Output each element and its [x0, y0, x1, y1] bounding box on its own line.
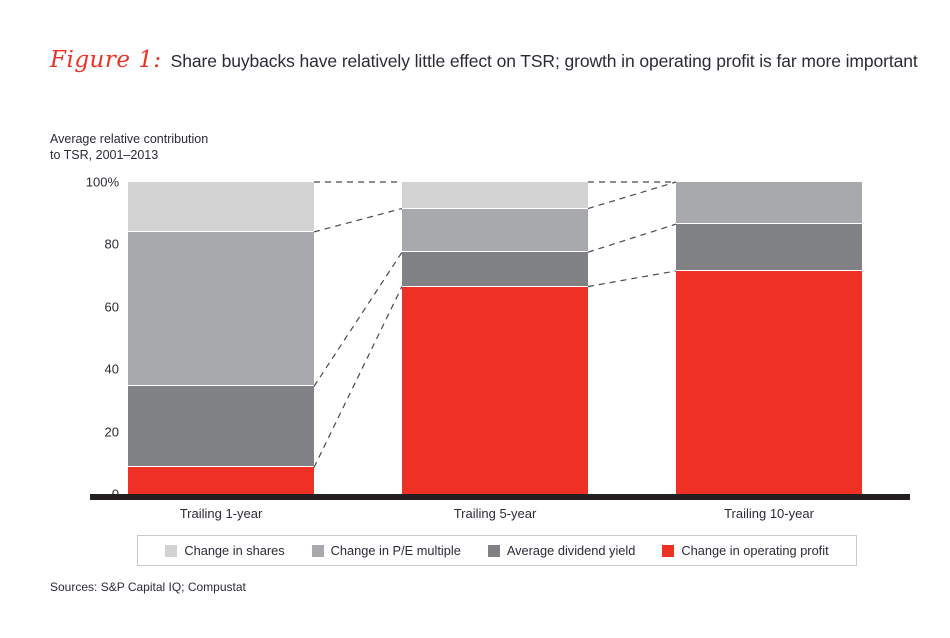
bar-segment-change-in-operating-profit[interactable] — [676, 271, 862, 494]
legend-label: Change in operating profit — [681, 543, 828, 558]
y-axis-caption-line1: Average relative contribution — [50, 131, 208, 147]
legend-swatch-icon — [488, 545, 500, 557]
connector-0-1 — [314, 287, 402, 468]
bar-trailing-5-year[interactable] — [402, 182, 588, 494]
connector-1-3 — [588, 182, 676, 209]
figure-title: Figure 1: Share buybacks have relatively… — [50, 47, 920, 79]
legend-label: Average dividend yield — [507, 543, 636, 558]
legend-swatch-icon — [165, 545, 177, 557]
figure-number-label: Figure 1: — [50, 47, 162, 73]
chart-area: 020406080100% Trailing 1-yearTrailing 5-… — [50, 176, 910, 501]
legend-item-change-in-operating-profit[interactable]: Change in operating profit — [662, 543, 828, 558]
legend-label: Change in shares — [184, 543, 284, 558]
bar-segment-average-dividend-yield[interactable] — [676, 224, 862, 271]
x-label-trailing-1-year: Trailing 1-year — [71, 506, 371, 521]
bar-segment-change-in-operating-profit[interactable] — [128, 467, 314, 494]
connector-0-3 — [314, 209, 402, 232]
legend-label: Change in P/E multiple — [331, 543, 461, 558]
y-axis-caption-line2: to TSR, 2001–2013 — [50, 147, 208, 163]
source-note: Sources: S&P Capital IQ; Compustat — [50, 580, 246, 594]
legend-swatch-icon — [312, 545, 324, 557]
bar-trailing-1-year[interactable] — [128, 182, 314, 494]
plot-area: 020406080100% — [128, 182, 862, 494]
page-title: Share buybacks have relatively little ef… — [171, 51, 918, 72]
bar-segment-change-in-p-e-multiple[interactable] — [402, 209, 588, 253]
y-tick-80: 80 — [105, 237, 119, 252]
x-label-trailing-5-year: Trailing 5-year — [345, 506, 645, 521]
bar-trailing-10-year[interactable] — [676, 182, 862, 494]
bar-segment-average-dividend-yield[interactable] — [128, 386, 314, 467]
y-tick-100: 100% — [86, 175, 119, 190]
connector-0-2 — [314, 252, 402, 386]
bar-segment-change-in-operating-profit[interactable] — [402, 287, 588, 494]
legend-item-average-dividend-yield[interactable]: Average dividend yield — [488, 543, 636, 558]
chart-legend: Change in sharesChange in P/E multipleAv… — [137, 535, 857, 566]
bar-segment-change-in-shares[interactable] — [402, 182, 588, 209]
y-tick-20: 20 — [105, 424, 119, 439]
y-axis-caption: Average relative contribution to TSR, 20… — [50, 131, 208, 163]
y-tick-40: 40 — [105, 362, 119, 377]
legend-item-change-in-shares[interactable]: Change in shares — [165, 543, 284, 558]
y-tick-60: 60 — [105, 299, 119, 314]
x-axis-line — [90, 494, 910, 500]
bar-segment-average-dividend-yield[interactable] — [402, 252, 588, 286]
legend-swatch-icon — [662, 545, 674, 557]
x-label-trailing-10-year: Trailing 10-year — [619, 506, 919, 521]
connector-1-1 — [588, 271, 676, 287]
bar-segment-change-in-p-e-multiple[interactable] — [676, 182, 862, 224]
bar-segment-change-in-p-e-multiple[interactable] — [128, 232, 314, 386]
connector-1-2 — [588, 224, 676, 252]
legend-item-change-in-p-e-multiple[interactable]: Change in P/E multiple — [312, 543, 461, 558]
bar-segment-change-in-shares[interactable] — [128, 182, 314, 232]
